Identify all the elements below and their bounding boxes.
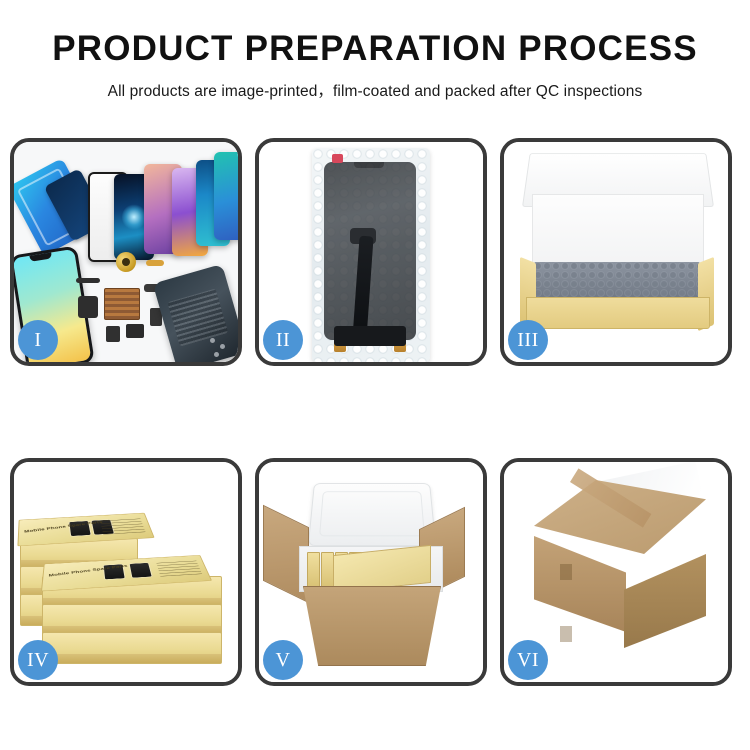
flex-cable-icon <box>76 278 100 283</box>
step-badge-5: V <box>263 640 303 680</box>
carton-seam-upper <box>560 564 572 580</box>
connector-board-icon <box>334 326 406 346</box>
page-subtitle: All products are image-printed，film-coat… <box>0 79 750 101</box>
gold-coil-icon <box>116 252 136 272</box>
step-panel-6: VI <box>500 458 732 686</box>
gold-box-front <box>526 297 710 329</box>
carton-right-face <box>624 554 706 648</box>
step-badge-3: III <box>508 320 548 360</box>
small-part-icon <box>106 326 120 342</box>
step-badge-4: IV <box>18 640 58 680</box>
step-badge-6: VI <box>508 640 548 680</box>
carton-seam-lower <box>560 626 572 642</box>
carton-left-face <box>534 536 626 632</box>
phone-screen-icon <box>214 152 238 240</box>
small-part-icon <box>126 324 144 338</box>
step-panel-1: I <box>10 138 242 366</box>
red-label-icon <box>332 154 343 163</box>
grey-bubble-wrap-icon <box>534 262 700 302</box>
step-panel-3: III <box>500 138 732 366</box>
gold-box <box>42 632 222 664</box>
flex-cable-icon <box>78 296 98 318</box>
steps-grid: I II <box>10 138 740 686</box>
header: PRODUCT PREPARATION PROCESS All products… <box>0 0 750 101</box>
step-panel-2: II <box>255 138 487 366</box>
phone-screen-fan <box>88 152 238 260</box>
screws-group <box>210 338 236 360</box>
product-preparation-infographic: PRODUCT PREPARATION PROCESS All products… <box>0 0 750 750</box>
step-panel-5: V <box>255 458 487 686</box>
page-title: PRODUCT PREPARATION PROCESS <box>0 30 750 69</box>
bubble-wrap-icon <box>312 148 430 362</box>
step-badge-1: I <box>18 320 58 360</box>
styrofoam-lid-icon <box>308 483 437 546</box>
step-panel-4: Mobile Phone Spare Parts Mobile Phone Sp… <box>10 458 242 686</box>
carton-body-icon <box>303 586 441 666</box>
chip-array-icon <box>104 288 140 320</box>
gold-connector-icon <box>146 260 164 266</box>
step-badge-2: II <box>263 320 303 360</box>
